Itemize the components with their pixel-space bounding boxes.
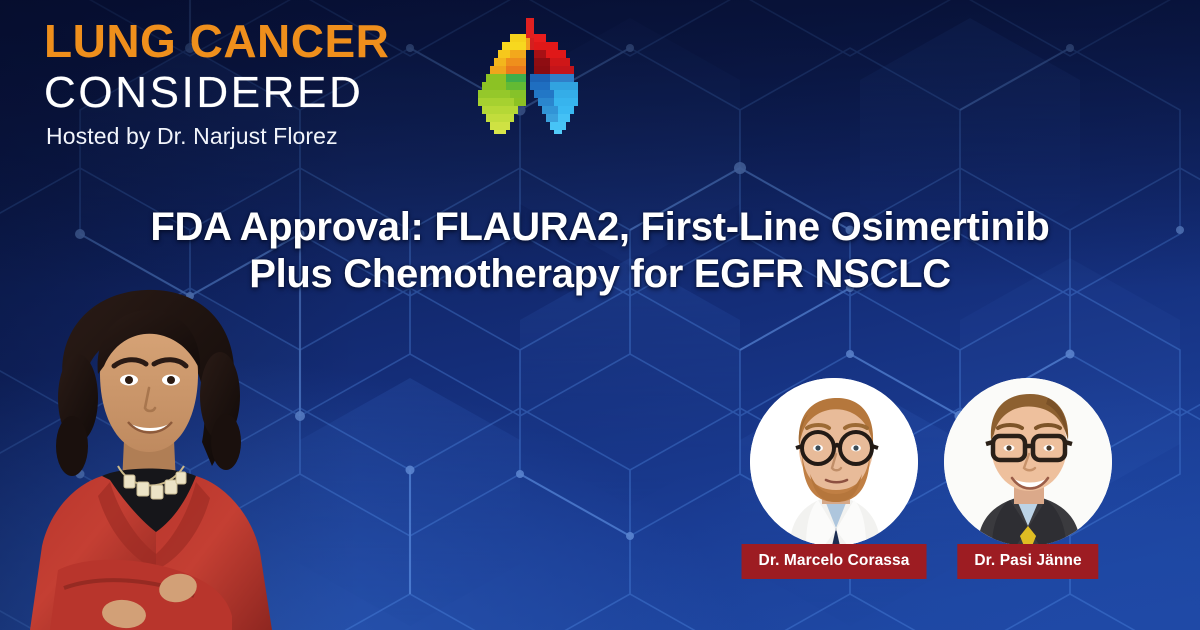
- guest-card-0[interactable]: Dr. Marcelo Corassa: [750, 378, 918, 546]
- brand-logo-lockup[interactable]: LUNG CANCER CONSIDERED Hosted by Dr. Nar…: [44, 10, 604, 151]
- pixelated-lungs-logo-icon: [466, 18, 594, 138]
- guest-name-badge-1: Dr. Pasi Jänne: [957, 544, 1098, 579]
- episode-title-line-1: FDA Approval: FLAURA2, First-Line Osimer…: [60, 204, 1140, 251]
- guest-avatar-corassa: [750, 378, 918, 546]
- brand-host-credit: Hosted by Dr. Narjust Florez: [46, 123, 456, 151]
- guest-list: Dr. Marcelo Corassa: [750, 378, 1112, 546]
- host-portrait: [6, 270, 306, 630]
- guest-avatar-janne: [944, 378, 1112, 546]
- podcast-episode-card: LUNG CANCER CONSIDERED Hosted by Dr. Nar…: [0, 0, 1200, 630]
- guest-name-badge-0: Dr. Marcelo Corassa: [742, 544, 927, 579]
- brand-wordmark: LUNG CANCER CONSIDERED Hosted by Dr. Nar…: [44, 10, 456, 151]
- brand-title-considered: CONSIDERED: [44, 68, 456, 117]
- brand-title-lung-cancer: LUNG CANCER: [44, 18, 456, 64]
- guest-card-1[interactable]: Dr. Pasi Jänne: [944, 378, 1112, 546]
